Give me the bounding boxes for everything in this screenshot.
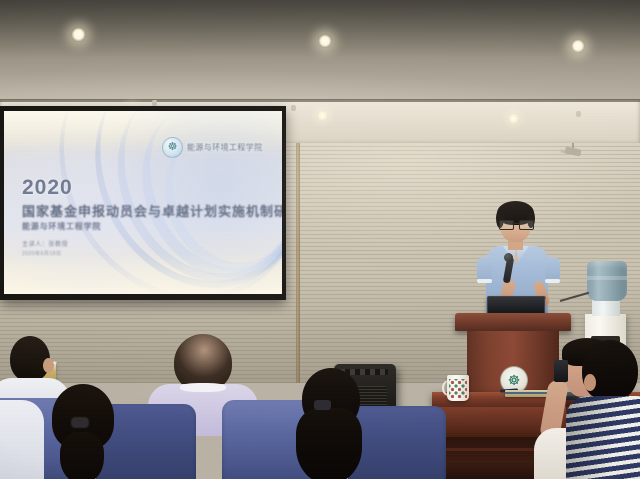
slide-institution-logo: ☸ 能源与环境工程学院 [162, 137, 263, 158]
projection-screen: ☸ 能源与环境工程学院 2020 国家基金申报动员会与卓越计划实施机制研讨 能源… [4, 111, 282, 294]
slide-logo-text: 能源与环境工程学院 [187, 142, 263, 153]
attendee-ear [584, 374, 596, 391]
mug-pattern [449, 379, 467, 398]
attendee-ponytail [36, 384, 132, 479]
attendee-head [582, 340, 638, 402]
slide-title: 国家基金申报动员会与卓越计划实施机制研讨 [22, 201, 282, 220]
ceiling-downlight [71, 27, 86, 42]
presenter-cuff-right [545, 279, 560, 283]
slide-subtitle: 能源与环境工程学院 [22, 221, 101, 232]
water-bottle [587, 261, 627, 301]
attendee-shirt-shadow [566, 396, 640, 479]
water-bottle-band [587, 276, 627, 280]
slide-date-line: 2020年6月18日 [22, 250, 61, 257]
ceiling-downlight [571, 39, 585, 53]
attendee-striped-shirt [576, 340, 640, 479]
hair-clip-icon [72, 418, 88, 427]
slide-presenter-line: 主讲人：张教授 [22, 239, 68, 248]
sprinkler-head-icon [576, 111, 581, 117]
sprinkler-head-icon [291, 105, 296, 111]
soffit-shadow-edge [0, 99, 640, 102]
ceiling-shading [0, 0, 640, 106]
projection-screen-frame: ☸ 能源与环境工程学院 2020 国家基金申报动员会与卓越计划实施机制研讨 能源… [0, 106, 286, 300]
attendee-ponytail-hair [60, 432, 104, 479]
microphone-capsule [504, 253, 513, 262]
smartphone-held [554, 360, 568, 382]
swirl-emblem-icon: ☸ [162, 137, 183, 158]
attendee-shoulders [0, 400, 44, 479]
attendee-longhair-center [286, 368, 382, 479]
lecture-hall-photo: ☸ 能源与环境工程学院 2020 国家基金申报动员会与卓越计划实施机制研讨 能源… [0, 0, 640, 479]
presenter-glasses-icon [499, 220, 532, 228]
presenter-cuff-left [477, 279, 492, 283]
attendee-ear [43, 358, 54, 373]
ceiling-downlight [318, 34, 332, 48]
soffit-downlight [508, 113, 519, 124]
attendee-left-edge [0, 400, 40, 479]
hair-clip-icon [314, 400, 331, 410]
attendee-shirt-collar [180, 383, 226, 392]
soffit-downlight [317, 110, 328, 121]
slide-year: 2020 [22, 176, 73, 200]
podium-top-surface [455, 313, 571, 331]
attendee-long-hair [296, 408, 362, 479]
